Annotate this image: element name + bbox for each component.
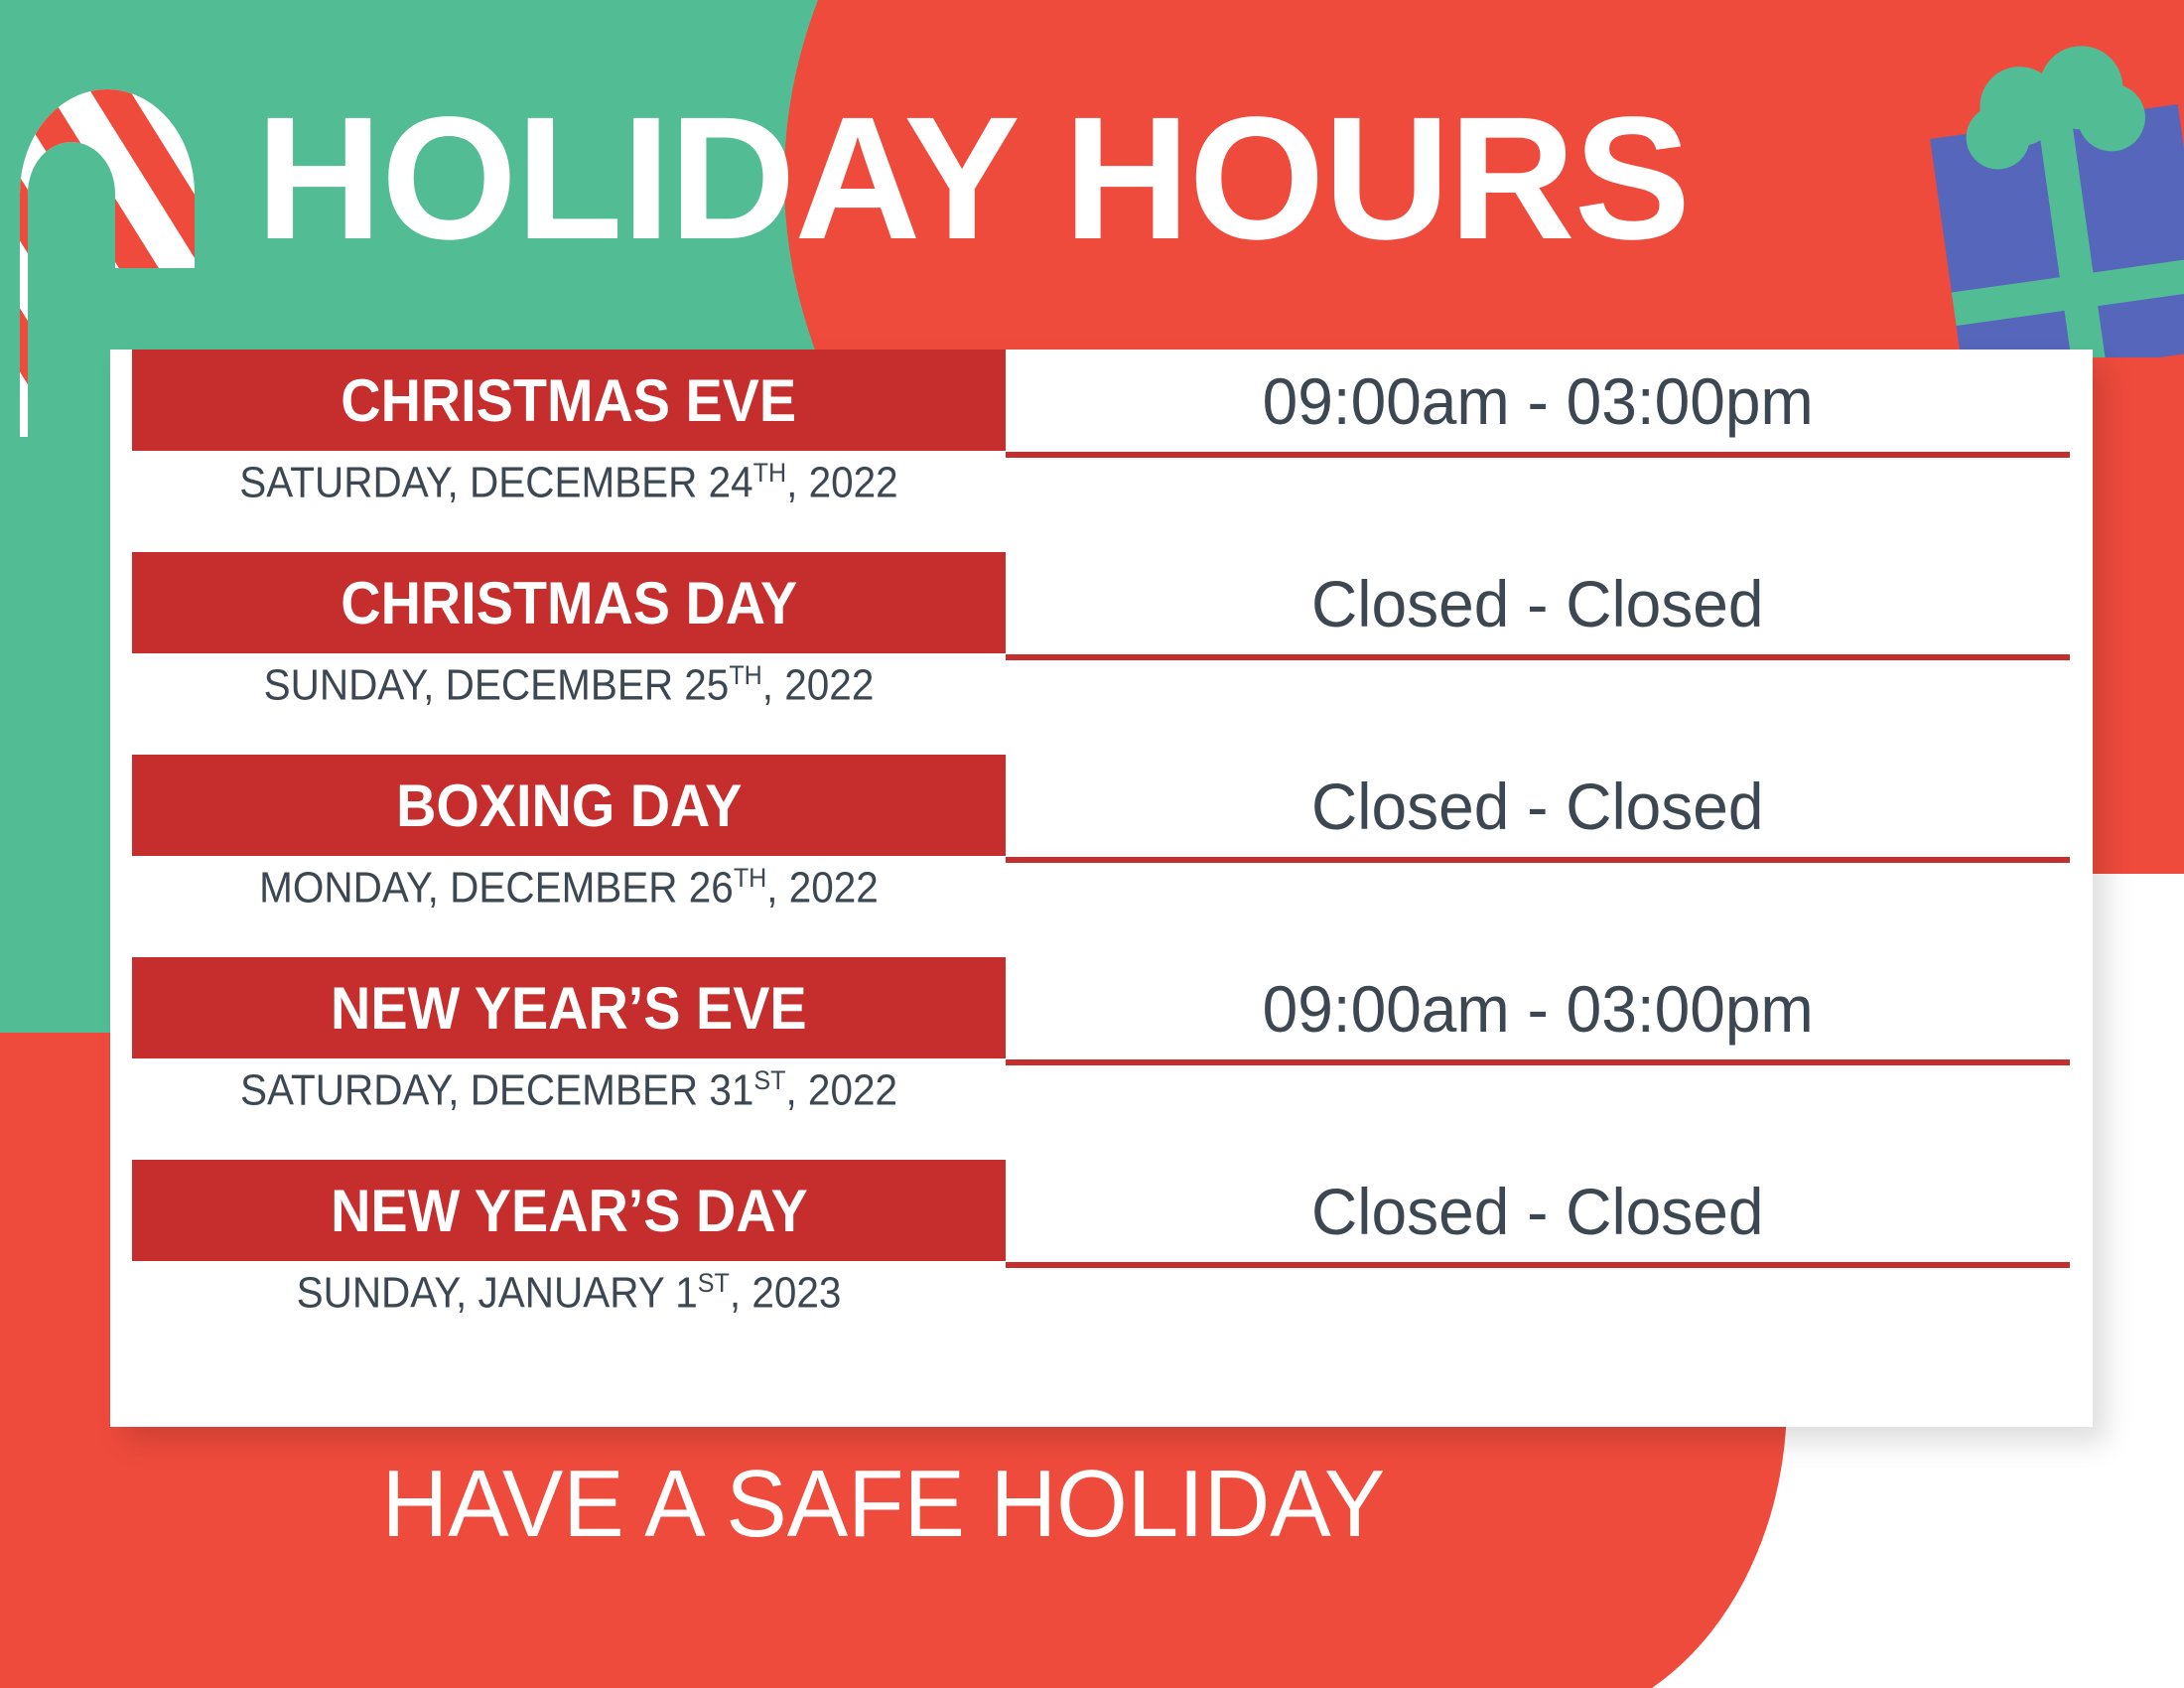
table-row: CHRISTMAS EVE SATURDAY, DECEMBER 24TH, 2… [110,350,2093,552]
holiday-name: NEW YEAR’S EVE [331,974,807,1043]
page-title: HOLIDAY HOURS [0,91,1946,266]
holiday-hours: Closed - Closed [1311,566,1763,641]
table-row: NEW YEAR’S DAY SUNDAY, JANUARY 1ST, 2023… [110,1160,2093,1371]
holiday-hours-cell: 09:00am - 03:00pm [1006,350,2070,458]
holiday-hours-cell: 09:00am - 03:00pm [1006,957,2070,1065]
holiday-hours-cell: Closed - Closed [1006,552,2070,660]
holiday-label-bar: NEW YEAR’S EVE [132,957,1006,1058]
holiday-label-bar: NEW YEAR’S DAY [132,1160,1006,1261]
holiday-label-bar: BOXING DAY [132,755,1006,856]
holiday-label-bar: CHRISTMAS EVE [132,350,1006,451]
holiday-hours-cell: Closed - Closed [1006,755,2070,863]
table-row: NEW YEAR’S EVE SATURDAY, DECEMBER 31ST, … [110,957,2093,1160]
holiday-date: SUNDAY, DECEMBER 25TH, 2022 [167,659,971,711]
hours-card: CHRISTMAS EVE SATURDAY, DECEMBER 24TH, 2… [110,350,2093,1427]
holiday-hours: 09:00am - 03:00pm [1262,971,1813,1047]
holiday-name: BOXING DAY [396,772,742,840]
holiday-name: NEW YEAR’S DAY [331,1177,808,1245]
holiday-name: CHRISTMAS EVE [341,366,797,435]
holiday-date: MONDAY, DECEMBER 26TH, 2022 [167,862,971,914]
table-row: BOXING DAY MONDAY, DECEMBER 26TH, 2022 C… [110,755,2093,957]
holiday-hours-poster: HOLIDAY HOURS CHRISTMAS EVE SATURDAY, DE… [0,0,2184,1688]
gift-box-icon [1916,30,2184,357]
holiday-hours: 09:00am - 03:00pm [1262,363,1813,439]
holiday-hours: Closed - Closed [1311,1174,1763,1249]
table-row: CHRISTMAS DAY SUNDAY, DECEMBER 25TH, 202… [110,552,2093,755]
holiday-date: SATURDAY, DECEMBER 24TH, 2022 [167,457,971,508]
holiday-name: CHRISTMAS DAY [341,569,797,637]
holiday-hours: Closed - Closed [1311,769,1763,844]
holiday-date: SUNDAY, JANUARY 1ST, 2023 [167,1267,971,1319]
holiday-label-bar: CHRISTMAS DAY [132,552,1006,653]
holiday-hours-cell: Closed - Closed [1006,1160,2070,1268]
schedule-table: CHRISTMAS EVE SATURDAY, DECEMBER 24TH, 2… [110,350,2093,1371]
holiday-date: SATURDAY, DECEMBER 31ST, 2022 [167,1064,971,1116]
footer-message: HAVE A SAFE HOLIDAY [36,1450,1732,1559]
